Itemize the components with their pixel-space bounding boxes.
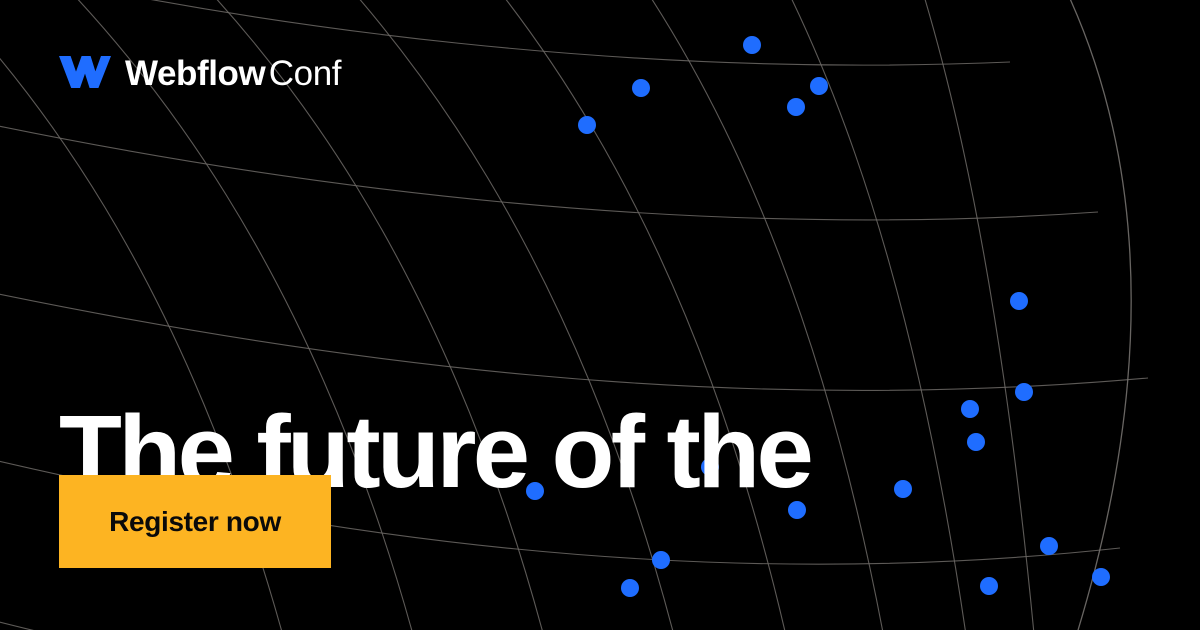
globe-node-dot (810, 77, 828, 95)
logo-lockup[interactable]: WebflowConf (59, 52, 341, 92)
webflow-logo-mark (59, 52, 111, 92)
globe-node-dot (1040, 537, 1058, 555)
globe-node-dot (787, 98, 805, 116)
globe-node-dot (1010, 292, 1028, 310)
grid-line (860, 0, 1040, 630)
register-now-button[interactable]: Register now (59, 475, 331, 568)
globe-node-dot (632, 79, 650, 97)
globe-limb (1040, 0, 1131, 630)
globe-node-dot (961, 400, 979, 418)
globe-node-dot (967, 433, 985, 451)
globe-node-dot (1015, 383, 1033, 401)
globe-node-dot (743, 36, 761, 54)
globe-node-dot (980, 577, 998, 595)
webflow-conf-banner: WebflowConf The future of the web starts… (0, 0, 1200, 630)
globe-node-dot (578, 116, 596, 134)
logo-brand-text: Webflow (125, 54, 265, 93)
grid-line (1040, 0, 1131, 630)
globe-node-dot (894, 480, 912, 498)
logo-wordmark: WebflowConf (125, 56, 341, 91)
globe-node-dot (1092, 568, 1110, 586)
logo-product-text: Conf (269, 54, 341, 93)
register-now-label: Register now (109, 508, 281, 536)
